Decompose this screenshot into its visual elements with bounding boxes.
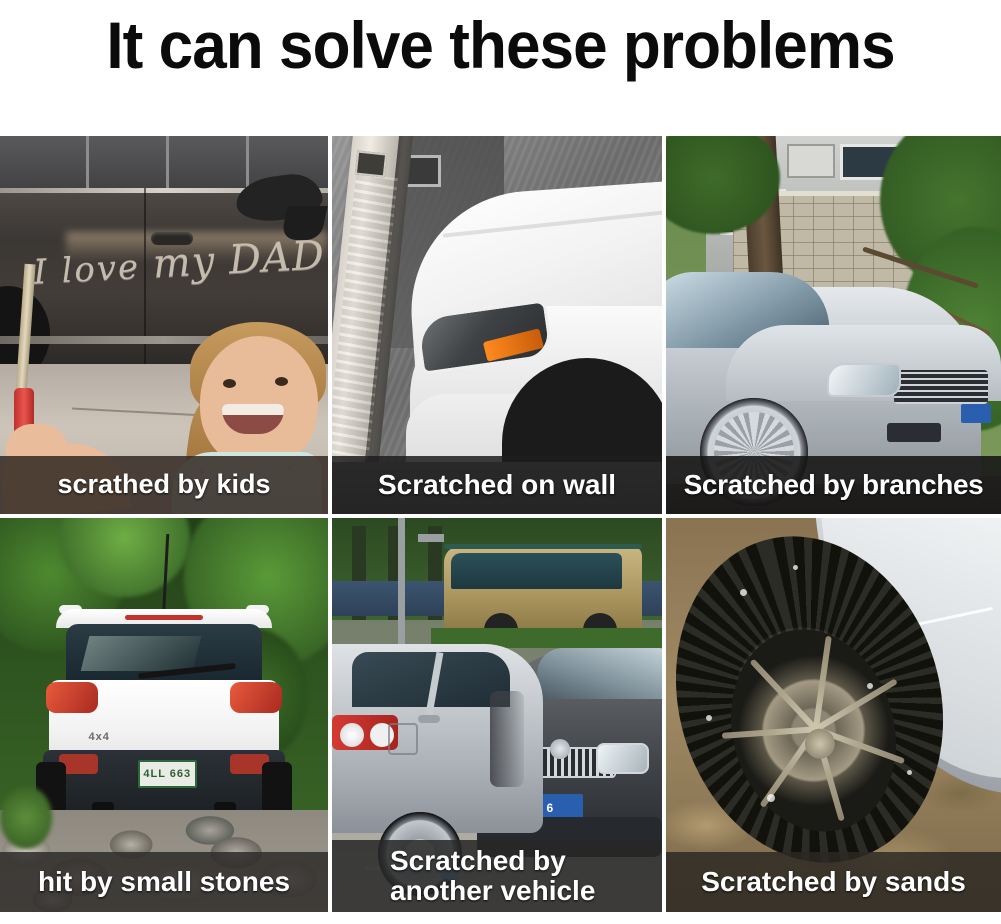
problem-cell-scratched-by-another-vehicle[interactable]: 6 Scratched by another vehicle: [332, 518, 666, 912]
fuel-door-icon: [388, 723, 418, 755]
page-title: It can solve these problems: [30, 2, 971, 88]
door-handle-icon: [418, 715, 440, 723]
light-pole: [398, 518, 405, 644]
tail-light-icon: [46, 682, 98, 714]
problem-cell-scratched-by-sands[interactable]: Scratched by sands: [666, 518, 1001, 912]
headlight-icon: [596, 743, 649, 775]
caption-scratched-by-sands: Scratched by sands: [666, 852, 1001, 912]
rim-spoke: [722, 727, 816, 740]
scratch-text-line2: my DAD: [151, 232, 325, 287]
fog-light-icon: [887, 423, 941, 442]
license-plate: [961, 404, 991, 423]
problem-cell-hit-by-small-stones[interactable]: 4x4 4LL 663 hit by small stones: [0, 518, 332, 912]
turn-signal-icon: [483, 328, 544, 361]
child-face: [200, 336, 318, 468]
dark-sedan-windshield: [533, 648, 662, 699]
caption-line-1: Scratched by: [390, 846, 566, 876]
light-pole-arm: [418, 534, 444, 542]
license-plate-text: 4LL 663: [143, 768, 191, 780]
grass-patch: [0, 786, 52, 849]
mud-splash: [767, 794, 775, 802]
license-plate: 4LL 663: [138, 760, 197, 788]
caption-hit-by-small-stones: hit by small stones: [0, 852, 328, 912]
rim-spoke: [815, 679, 899, 733]
caption-scratched-by-kids: scrathed by kids: [0, 456, 328, 514]
car-emblem-icon: [550, 739, 570, 759]
pillar-recess-icon: [355, 150, 387, 177]
tail-light-icon: [230, 682, 282, 714]
rim-spoke: [750, 659, 819, 732]
air-conditioner-unit-icon: [787, 144, 835, 178]
scratch-text-line1: I love: [32, 247, 141, 293]
bus-roof: [444, 544, 642, 549]
mud-splash: [740, 589, 747, 596]
headlight-icon: [827, 363, 901, 397]
license-plate-text: 6: [546, 801, 553, 815]
problem-cell-scratched-by-kids[interactable]: I love my DAD scrathed by kids: [0, 136, 332, 518]
caption-scratched-on-wall: Scratched on wall: [332, 456, 662, 514]
front-grille: [894, 370, 988, 404]
child-eye-right: [275, 377, 288, 386]
poster-root: It can solve these problems I love my DA…: [0, 0, 1001, 924]
third-brake-light-icon: [125, 615, 204, 620]
bus-windows: [451, 553, 623, 588]
window-reflection: [81, 636, 201, 671]
problem-cell-scratched-on-wall[interactable]: Scratched on wall: [332, 136, 666, 518]
collision-impact-zone: [490, 691, 524, 787]
problem-cell-scratched-by-branches[interactable]: Scratched by branches: [666, 136, 1001, 518]
child-teeth: [222, 404, 284, 415]
caption-line-2: another vehicle: [390, 876, 595, 906]
vehicle-badge-4x4: 4x4: [89, 731, 110, 743]
problem-image-grid: I love my DAD scrathed by kids: [0, 136, 1001, 912]
caption-scratched-by-another-vehicle: Scratched by another vehicle: [332, 840, 662, 912]
caption-scratched-by-branches: Scratched by branches: [666, 456, 1001, 514]
child-eye-left: [223, 379, 236, 388]
